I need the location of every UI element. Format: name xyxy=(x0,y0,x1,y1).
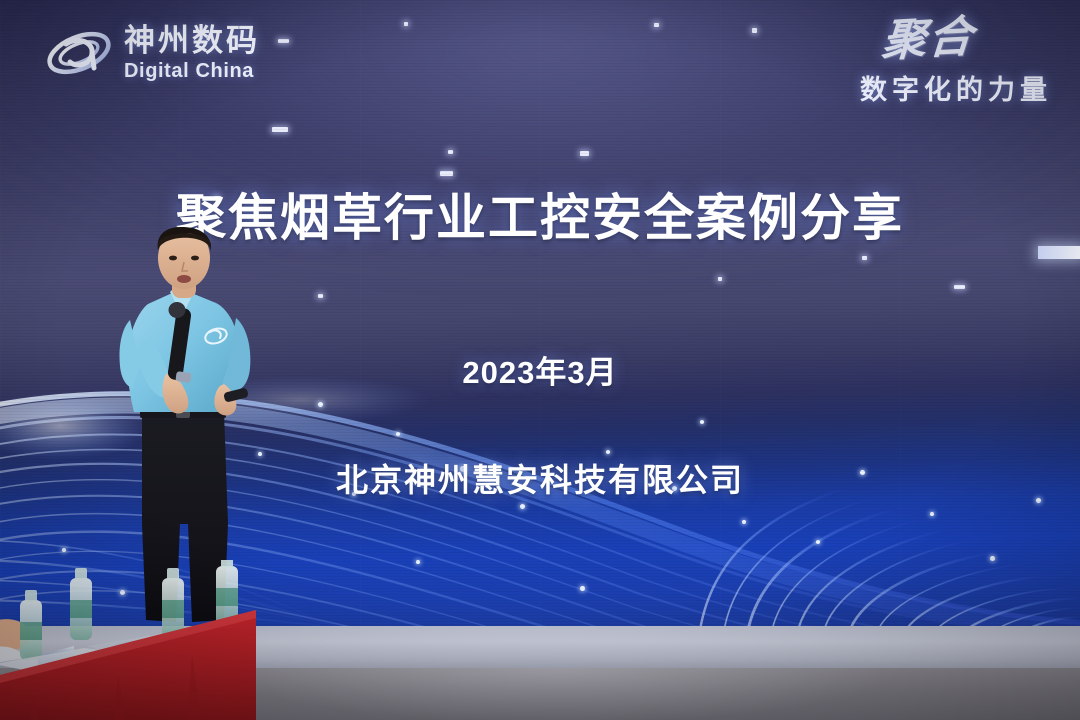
event-calligraphy: 聚合 xyxy=(858,15,976,65)
event-slogan: 数字化的力量 xyxy=(860,68,1052,107)
conference-stage-photo: 神州数码 Digital China 聚合 数字化的力量 聚焦烟草行业工控安全案… xyxy=(0,0,1080,720)
floor-light-sheen xyxy=(240,668,880,720)
water-bottle-icon xyxy=(70,568,92,640)
digital-china-swirl-logo xyxy=(44,22,114,84)
stage-edge-lamp xyxy=(1038,246,1080,259)
digital-china-logo-block: 神州数码 Digital China xyxy=(44,22,260,84)
judges-table xyxy=(0,560,294,720)
water-bottle-icon xyxy=(20,590,42,660)
event-branding-block: 聚合 数字化的力量 xyxy=(860,18,1052,107)
brand-name-cn: 神州数码 xyxy=(124,25,260,56)
brand-name-en: Digital China xyxy=(124,61,260,81)
water-bottle-icon xyxy=(162,568,184,638)
